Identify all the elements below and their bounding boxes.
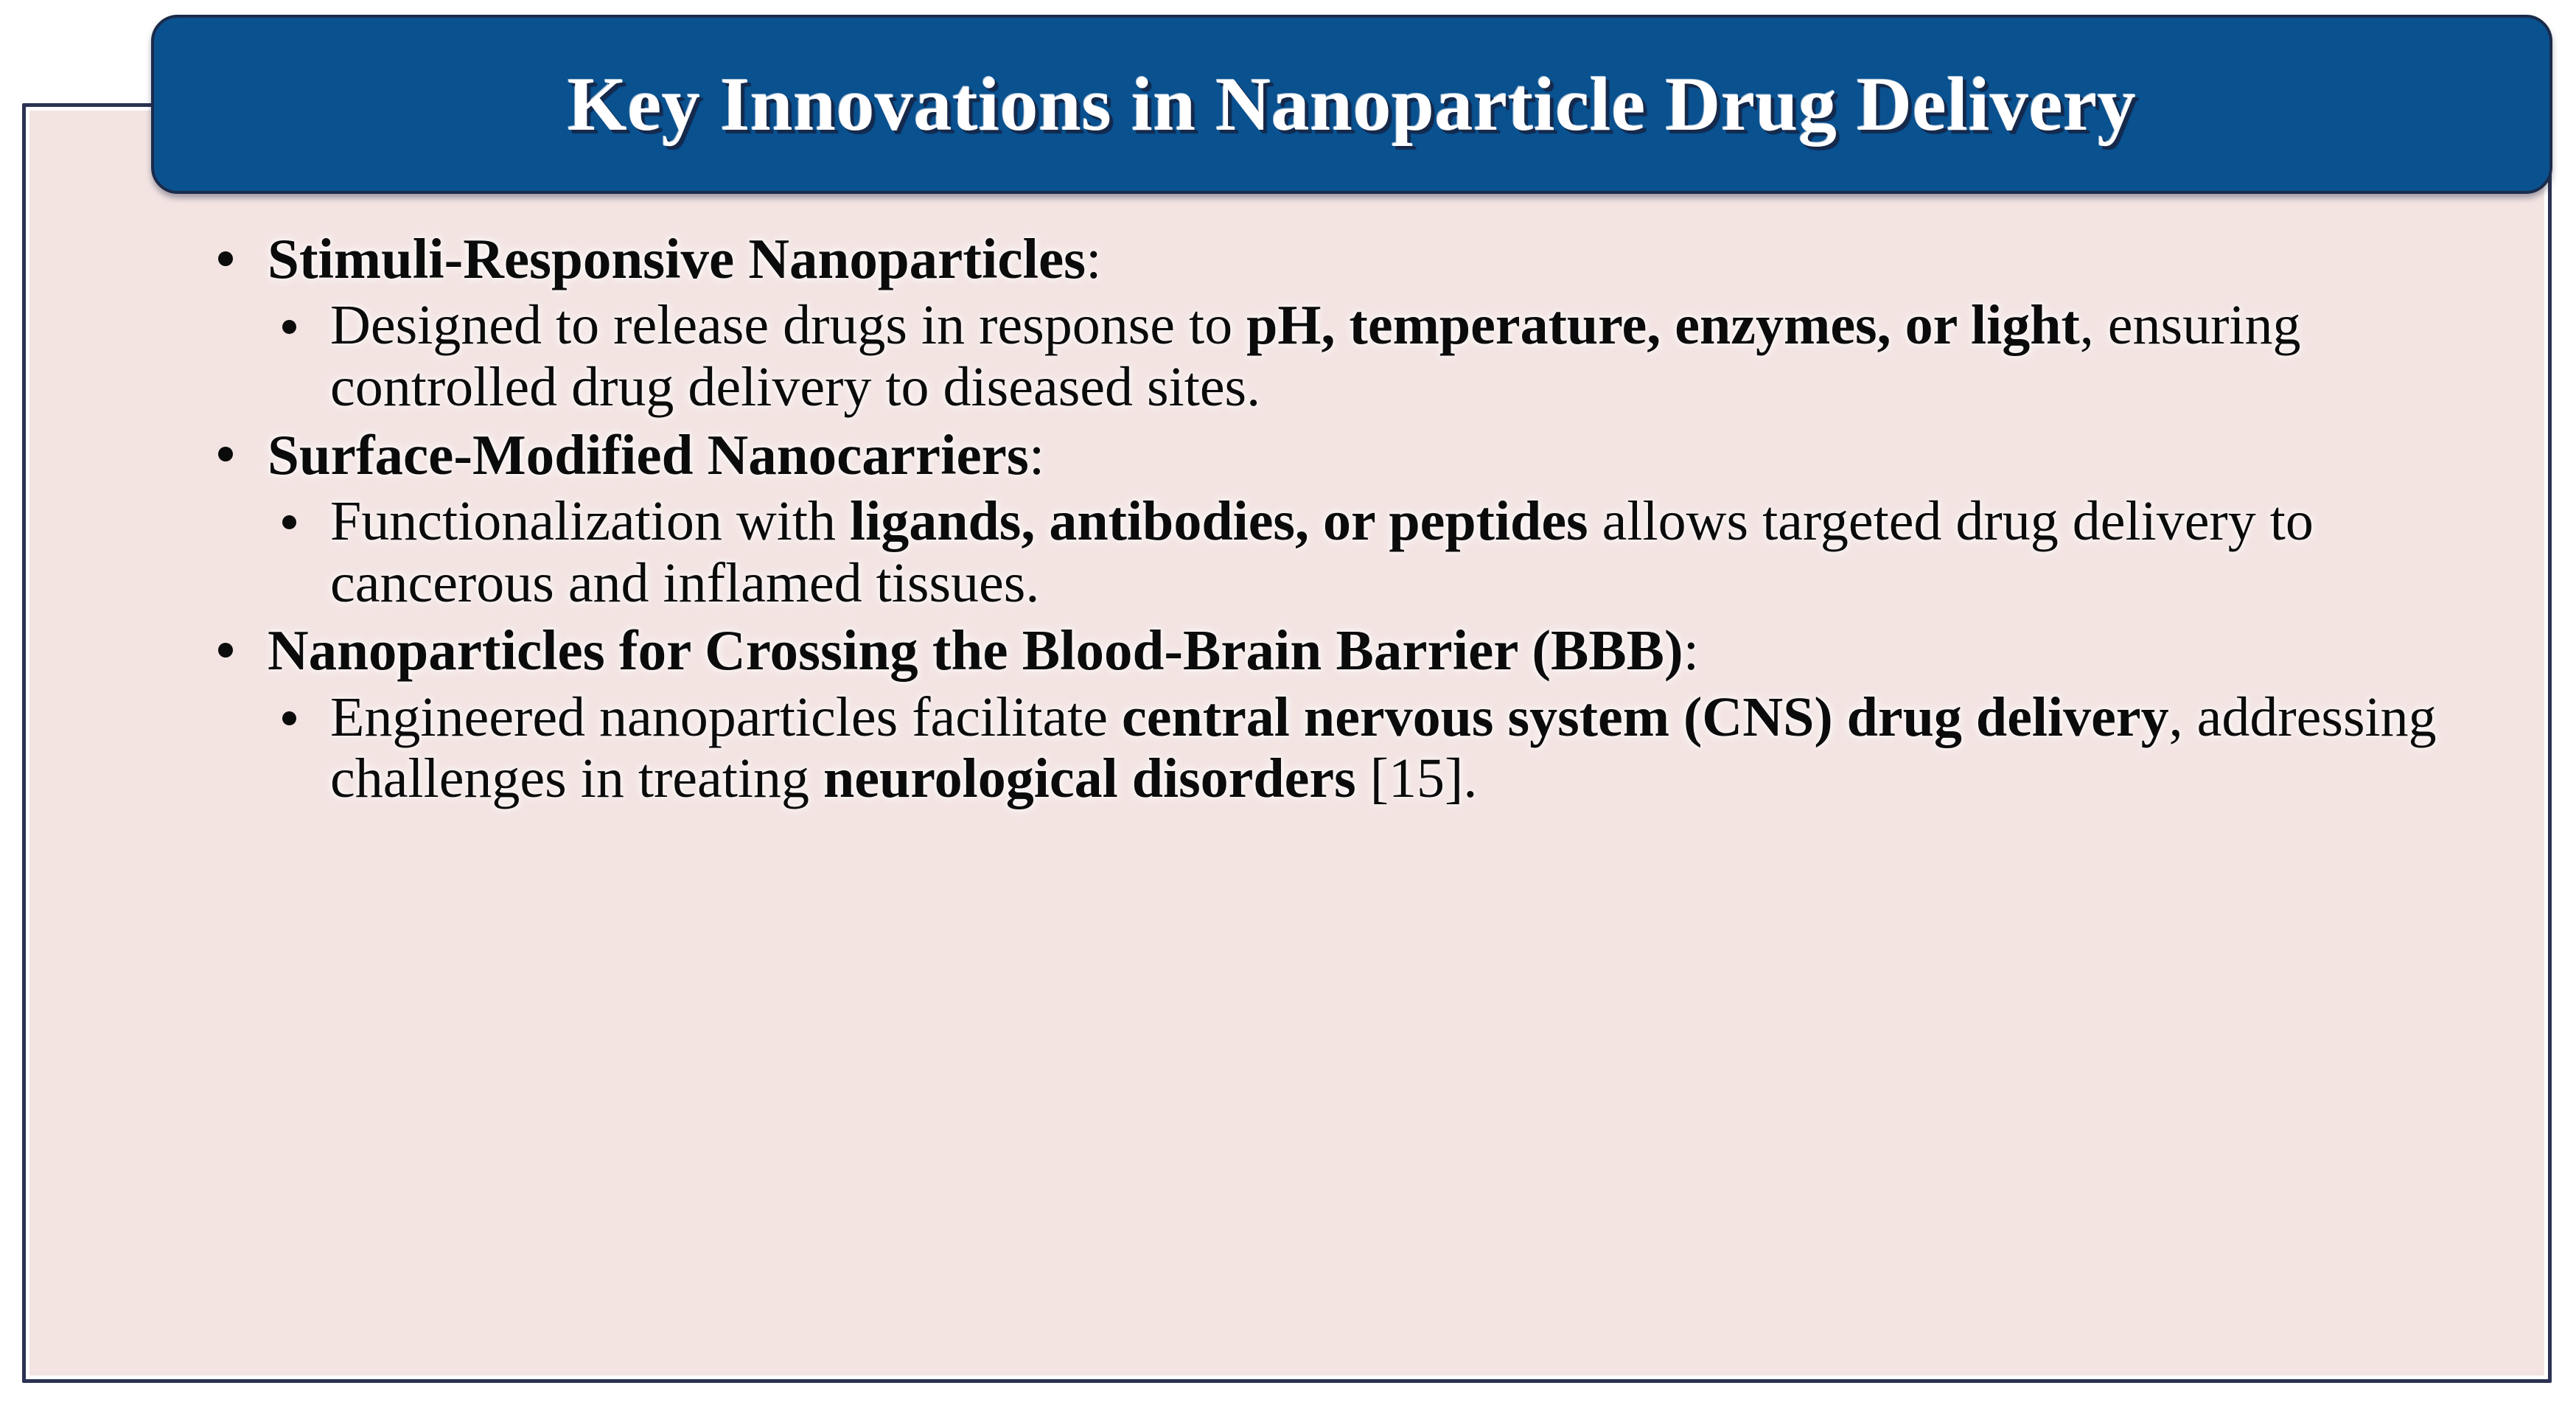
bullet-item-level1: Stimuli-Responsive Nanoparticles: bbox=[214, 229, 2519, 289]
bullet-dot-icon bbox=[218, 251, 233, 266]
bullet-text-plain: [15]. bbox=[1356, 747, 1478, 809]
bullet-item-level2: Designed to release drugs in response to… bbox=[276, 295, 2519, 418]
bullet-heading-text: Surface-Modified Nanocarriers bbox=[268, 423, 1029, 487]
bullet-dot-icon bbox=[282, 711, 296, 725]
bullet-item-level2: Engineered nanoparticles facilitate cent… bbox=[276, 687, 2519, 810]
bullet-dot-icon bbox=[218, 643, 233, 658]
bullet-dot-icon bbox=[282, 320, 296, 334]
bullet-heading-text: Nanoparticles for Crossing the Blood-Bra… bbox=[268, 618, 1683, 682]
content-panel: Stimuli-Responsive Nanoparticles:Designe… bbox=[22, 103, 2552, 1383]
bullet-item-level1: Nanoparticles for Crossing the Blood-Bra… bbox=[214, 620, 2519, 680]
bullet-item-level1: Surface-Modified Nanocarriers: bbox=[214, 425, 2519, 485]
bullet-list: Stimuli-Responsive Nanoparticles:Designe… bbox=[214, 229, 2519, 816]
bullet-item-level2: Functionalization with ligands, antibodi… bbox=[276, 491, 2519, 614]
page-title: Key Innovations in Nanoparticle Drug Del… bbox=[568, 66, 2136, 143]
bullet-heading-colon: : bbox=[1029, 423, 1044, 487]
bullet-text-emphasis: pH, temperature, enzymes, or light bbox=[1246, 294, 2080, 356]
bullet-text-emphasis: central nervous system (CNS) drug delive… bbox=[1122, 686, 2169, 748]
bullet-heading-colon: : bbox=[1683, 618, 1699, 682]
bullet-dot-icon bbox=[282, 515, 296, 529]
bullet-group: Nanoparticles for Crossing the Blood-Bra… bbox=[214, 620, 2519, 810]
bullet-heading-text: Stimuli-Responsive Nanoparticles bbox=[268, 227, 1086, 290]
bullet-heading-colon: : bbox=[1086, 227, 1101, 290]
bullet-dot-icon bbox=[218, 447, 233, 461]
bullet-text-emphasis: neurological disorders bbox=[823, 747, 1356, 809]
bullet-text-plain: Engineered nanoparticles facilitate bbox=[330, 686, 1122, 748]
slide-title-bar: Key Innovations in Nanoparticle Drug Del… bbox=[151, 15, 2552, 194]
bullet-text-emphasis: ligands, antibodies, or peptides bbox=[850, 490, 1588, 552]
bullet-group: Surface-Modified Nanocarriers:Functional… bbox=[214, 425, 2519, 615]
bullet-text-plain: Designed to release drugs in response to bbox=[330, 294, 1246, 356]
bullet-text-plain: Functionalization with bbox=[330, 490, 850, 552]
bullet-group: Stimuli-Responsive Nanoparticles:Designe… bbox=[214, 229, 2519, 419]
